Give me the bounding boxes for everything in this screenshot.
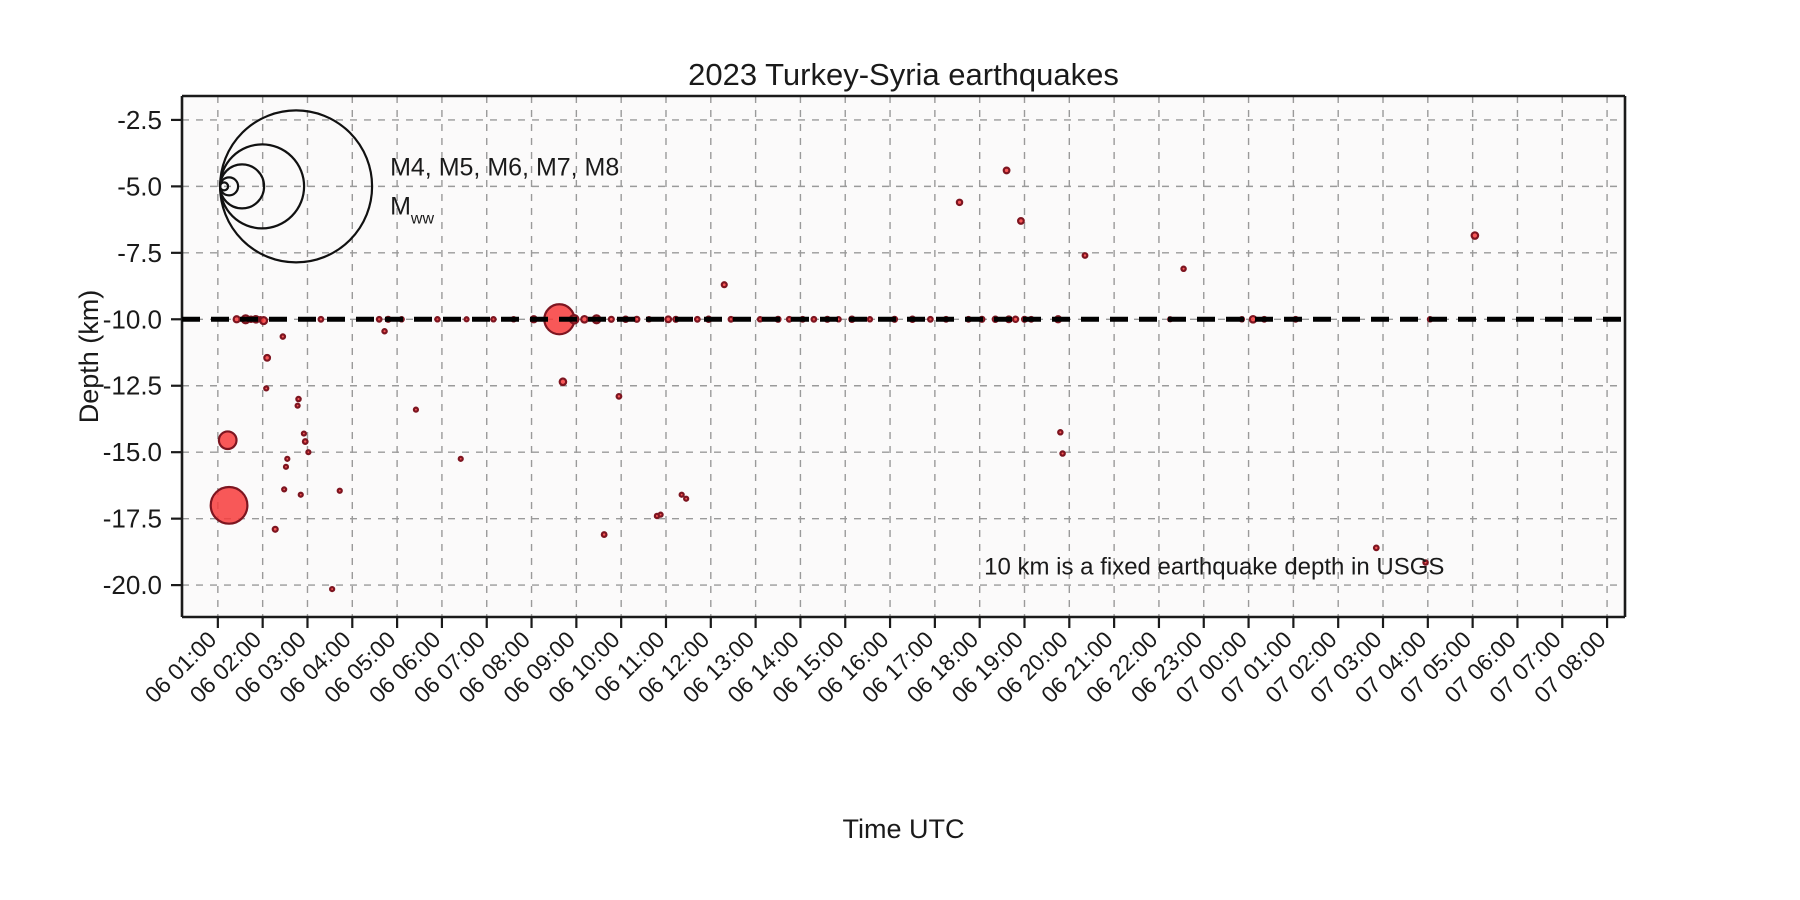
earthquake-bubble[interactable] <box>609 317 614 322</box>
earthquake-bubble[interactable] <box>928 317 933 322</box>
earthquake-bubble[interactable] <box>296 397 300 401</box>
earthquake-bubble-chart-figure: M4, M5, M6, M7, M8 Mww 10 km is a fixed … <box>0 0 1800 900</box>
earthquake-bubble[interactable] <box>602 532 607 537</box>
y-axis-label: Depth (km) <box>74 290 104 424</box>
y-tick-label: -20.0 <box>103 570 162 600</box>
earthquake-bubble[interactable] <box>491 317 495 321</box>
chart-canvas: M4, M5, M6, M7, M8 Mww 10 km is a fixed … <box>0 0 1800 900</box>
earthquake-bubble[interactable] <box>659 513 663 517</box>
earthquake-bubble[interactable] <box>299 493 303 497</box>
y-tick-label: -2.5 <box>117 105 162 135</box>
earthquake-bubble[interactable] <box>377 317 382 322</box>
legend-magnitude-labels: M4, M5, M6, M7, M8 <box>390 153 619 181</box>
earthquake-bubble[interactable] <box>957 200 962 205</box>
earthquake-bubble[interactable] <box>260 317 267 324</box>
earthquake-bubble[interactable] <box>330 587 334 591</box>
earthquake-bubble[interactable] <box>219 431 237 449</box>
earthquake-bubble[interactable] <box>414 408 418 412</box>
earthquake-bubble[interactable] <box>695 317 700 322</box>
y-tick-label: -17.5 <box>103 504 162 534</box>
earthquake-bubble[interactable] <box>264 386 268 390</box>
fixed-depth-annotation: 10 km is a fixed earthquake depth in USG… <box>984 553 1444 580</box>
earthquake-bubble[interactable] <box>303 439 308 444</box>
earthquake-bubble[interactable] <box>684 497 688 501</box>
earthquake-bubble[interactable] <box>581 316 587 322</box>
earthquake-bubble[interactable] <box>273 527 278 532</box>
y-tick-label: -15.0 <box>103 437 162 467</box>
earthquake-bubble[interactable] <box>211 487 248 524</box>
earthquake-bubble[interactable] <box>1058 430 1062 434</box>
earthquake-bubble[interactable] <box>319 317 324 322</box>
earthquake-bubble[interactable] <box>1004 168 1010 174</box>
earthquake-bubble[interactable] <box>306 450 310 454</box>
earthquake-bubble[interactable] <box>560 379 566 385</box>
legend-mww-subscript: ww <box>410 210 435 227</box>
earthquake-bubble[interactable] <box>338 489 342 493</box>
earthquake-bubble[interactable] <box>282 487 286 491</box>
y-tick-label: -7.5 <box>117 238 162 268</box>
earthquake-bubble[interactable] <box>459 457 463 461</box>
earthquake-bubble[interactable] <box>435 317 439 321</box>
earthquake-bubble[interactable] <box>234 316 240 322</box>
earthquake-bubble[interactable] <box>1013 317 1018 322</box>
earthquake-bubble[interactable] <box>382 329 386 333</box>
earthquake-bubble[interactable] <box>1060 451 1064 455</box>
y-tick-label: -12.5 <box>103 371 162 401</box>
earthquake-bubble[interactable] <box>729 317 734 322</box>
legend-mww-main: M <box>390 192 411 220</box>
earthquake-bubble[interactable] <box>617 394 622 399</box>
earthquake-bubble[interactable] <box>634 317 639 322</box>
earthquake-bubble[interactable] <box>1083 253 1088 258</box>
earthquake-bubble[interactable] <box>1472 232 1478 238</box>
earthquake-bubble[interactable] <box>758 317 762 321</box>
earthquake-bubble[interactable] <box>812 317 817 322</box>
y-tick-label: -5.0 <box>117 171 162 201</box>
earthquake-bubble[interactable] <box>1374 546 1379 551</box>
earthquake-bubble[interactable] <box>281 334 285 338</box>
earthquake-bubble[interactable] <box>302 432 306 436</box>
earthquake-bubble[interactable] <box>787 317 792 322</box>
chart-title: 2023 Turkey-Syria earthquakes <box>688 57 1119 92</box>
earthquake-bubble[interactable] <box>680 493 684 497</box>
earthquake-bubble[interactable] <box>665 316 671 322</box>
y-tick-label: -10.0 <box>103 304 162 334</box>
earthquake-bubble[interactable] <box>284 465 288 469</box>
earthquake-bubble[interactable] <box>264 355 270 361</box>
earthquake-bubble[interactable] <box>722 282 727 287</box>
earthquake-bubble[interactable] <box>868 317 872 321</box>
earthquake-bubble[interactable] <box>1018 218 1024 224</box>
earthquake-bubble[interactable] <box>285 457 289 461</box>
earthquake-bubble[interactable] <box>465 317 469 321</box>
x-axis-label: Time UTC <box>843 814 965 844</box>
earthquake-bubble[interactable] <box>1181 267 1185 271</box>
earthquake-bubble[interactable] <box>296 404 300 408</box>
